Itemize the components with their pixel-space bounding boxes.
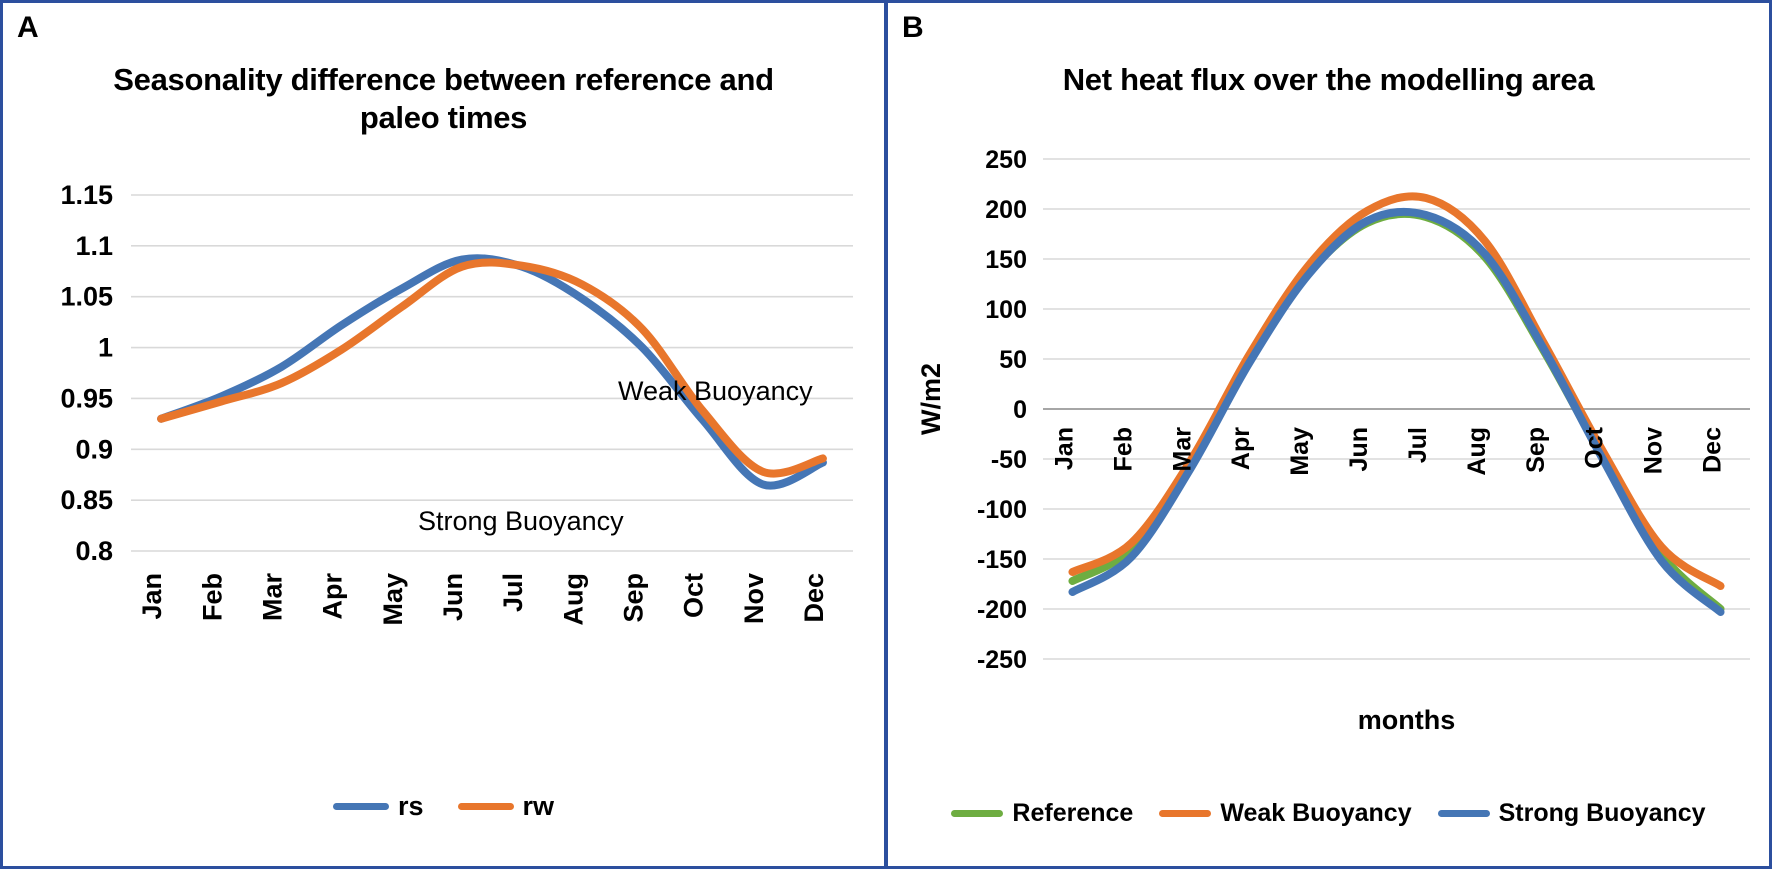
x-tick-label-feb: Feb <box>1109 427 1137 471</box>
y-tick-label: 50 <box>999 346 1027 374</box>
chart-a-plot: 1.151.11.0510.950.90.850.8JanFebMarAprMa… <box>3 137 889 777</box>
annotation-weak-buoyancy: Weak Buoyancy <box>618 376 813 406</box>
y-tick-label: 1 <box>98 332 113 362</box>
panel-b: B Net heat flux over the modelling area … <box>886 0 1772 869</box>
series-line-strong-buoyancy <box>1072 212 1720 612</box>
legend-label-weak-buoyancy: Weak Buoyancy <box>1220 799 1411 828</box>
legend-item-reference[interactable]: Reference <box>951 799 1133 828</box>
legend-swatch-rs <box>333 803 389 810</box>
legend-label-rw: rw <box>523 791 555 822</box>
legend-swatch-strong-buoyancy <box>1438 810 1490 817</box>
x-tick-label-oct: Oct <box>1581 426 1609 468</box>
x-tick-label-aug: Aug <box>1463 427 1491 476</box>
y-tick-label: 200 <box>985 196 1027 224</box>
x-tick-label-may: May <box>1286 427 1314 476</box>
panel-a-title: Seasonality difference between reference… <box>99 61 788 137</box>
x-tick-label-feb: Feb <box>197 573 227 621</box>
x-tick-label-mar: Mar <box>1168 427 1196 472</box>
y-tick-label: -200 <box>977 596 1027 624</box>
series-line-reference <box>1072 214 1720 609</box>
legend-item-strong-buoyancy[interactable]: Strong Buoyancy <box>1438 799 1706 828</box>
panel-a: A Seasonality difference between referen… <box>0 0 886 869</box>
x-tick-label-nov: Nov <box>739 573 769 624</box>
y-tick-label: -150 <box>977 546 1027 574</box>
legend-swatch-weak-buoyancy <box>1159 810 1211 817</box>
y-tick-label: -50 <box>991 446 1027 474</box>
x-tick-label-jan: Jan <box>137 573 167 620</box>
y-tick-label: 1.15 <box>60 180 113 210</box>
legend-swatch-rw <box>458 803 514 810</box>
x-tick-label-oct: Oct <box>679 573 709 618</box>
y-tick-label: 0.8 <box>75 536 113 566</box>
legend-label-rs: rs <box>398 791 424 822</box>
x-tick-label-dec: Dec <box>799 573 829 623</box>
y-tick-label: -250 <box>977 646 1027 674</box>
x-tick-label-aug: Aug <box>558 573 588 625</box>
y-axis-title: W/m2 <box>916 363 946 435</box>
legend-item-weak-buoyancy[interactable]: Weak Buoyancy <box>1159 799 1411 828</box>
x-tick-label-may: May <box>378 573 408 626</box>
y-tick-label: 0.95 <box>60 383 113 413</box>
x-tick-label-jun: Jun <box>438 573 468 621</box>
panel-b-title: Net heat flux over the modelling area <box>928 61 1729 99</box>
x-axis-title: months <box>1358 705 1456 735</box>
y-tick-label: 1.05 <box>60 281 113 311</box>
y-tick-label: 0.85 <box>60 485 113 515</box>
series-line-rw <box>161 262 823 473</box>
x-tick-label-jul: Jul <box>498 573 528 612</box>
panel-a-letter: A <box>17 11 39 45</box>
legend-swatch-reference <box>951 810 1003 817</box>
chart-b-legend: Reference Weak Buoyancy Strong Buoyancy <box>888 799 1769 828</box>
y-tick-label: 150 <box>985 246 1027 274</box>
x-tick-label-jan: Jan <box>1050 427 1078 470</box>
annotation-strong-buoyancy: Strong Buoyancy <box>418 506 624 536</box>
series-line-weak-buoyancy <box>1072 196 1720 586</box>
y-tick-label: 0 <box>1013 396 1027 424</box>
legend-item-rw[interactable]: rw <box>458 791 555 822</box>
x-tick-label-mar: Mar <box>257 572 287 621</box>
x-tick-label-jun: Jun <box>1345 427 1373 471</box>
y-tick-label: 1.1 <box>75 230 113 260</box>
y-tick-label: -100 <box>977 496 1027 524</box>
figure-container: A Seasonality difference between referen… <box>0 0 1772 869</box>
x-tick-label-apr: Apr <box>1227 427 1255 470</box>
y-tick-label: 0.9 <box>75 434 113 464</box>
y-tick-label: 250 <box>985 146 1027 174</box>
series-line-rs <box>161 258 823 485</box>
x-tick-label-sep: Sep <box>1522 427 1550 473</box>
panel-b-letter: B <box>902 11 924 45</box>
y-tick-label: 100 <box>985 296 1027 324</box>
legend-label-reference: Reference <box>1012 799 1133 828</box>
legend-label-strong-buoyancy: Strong Buoyancy <box>1499 799 1706 828</box>
x-tick-label-jul: Jul <box>1404 427 1432 463</box>
legend-item-rs[interactable]: rs <box>333 791 424 822</box>
x-tick-label-dec: Dec <box>1699 427 1727 473</box>
chart-b-plot: 250200150100500-50-100-150-200-250JanFeb… <box>888 99 1772 789</box>
x-tick-label-sep: Sep <box>618 573 648 623</box>
chart-a-legend: rs rw <box>3 791 884 822</box>
x-tick-label-apr: Apr <box>318 572 348 619</box>
x-tick-label-nov: Nov <box>1640 427 1668 474</box>
